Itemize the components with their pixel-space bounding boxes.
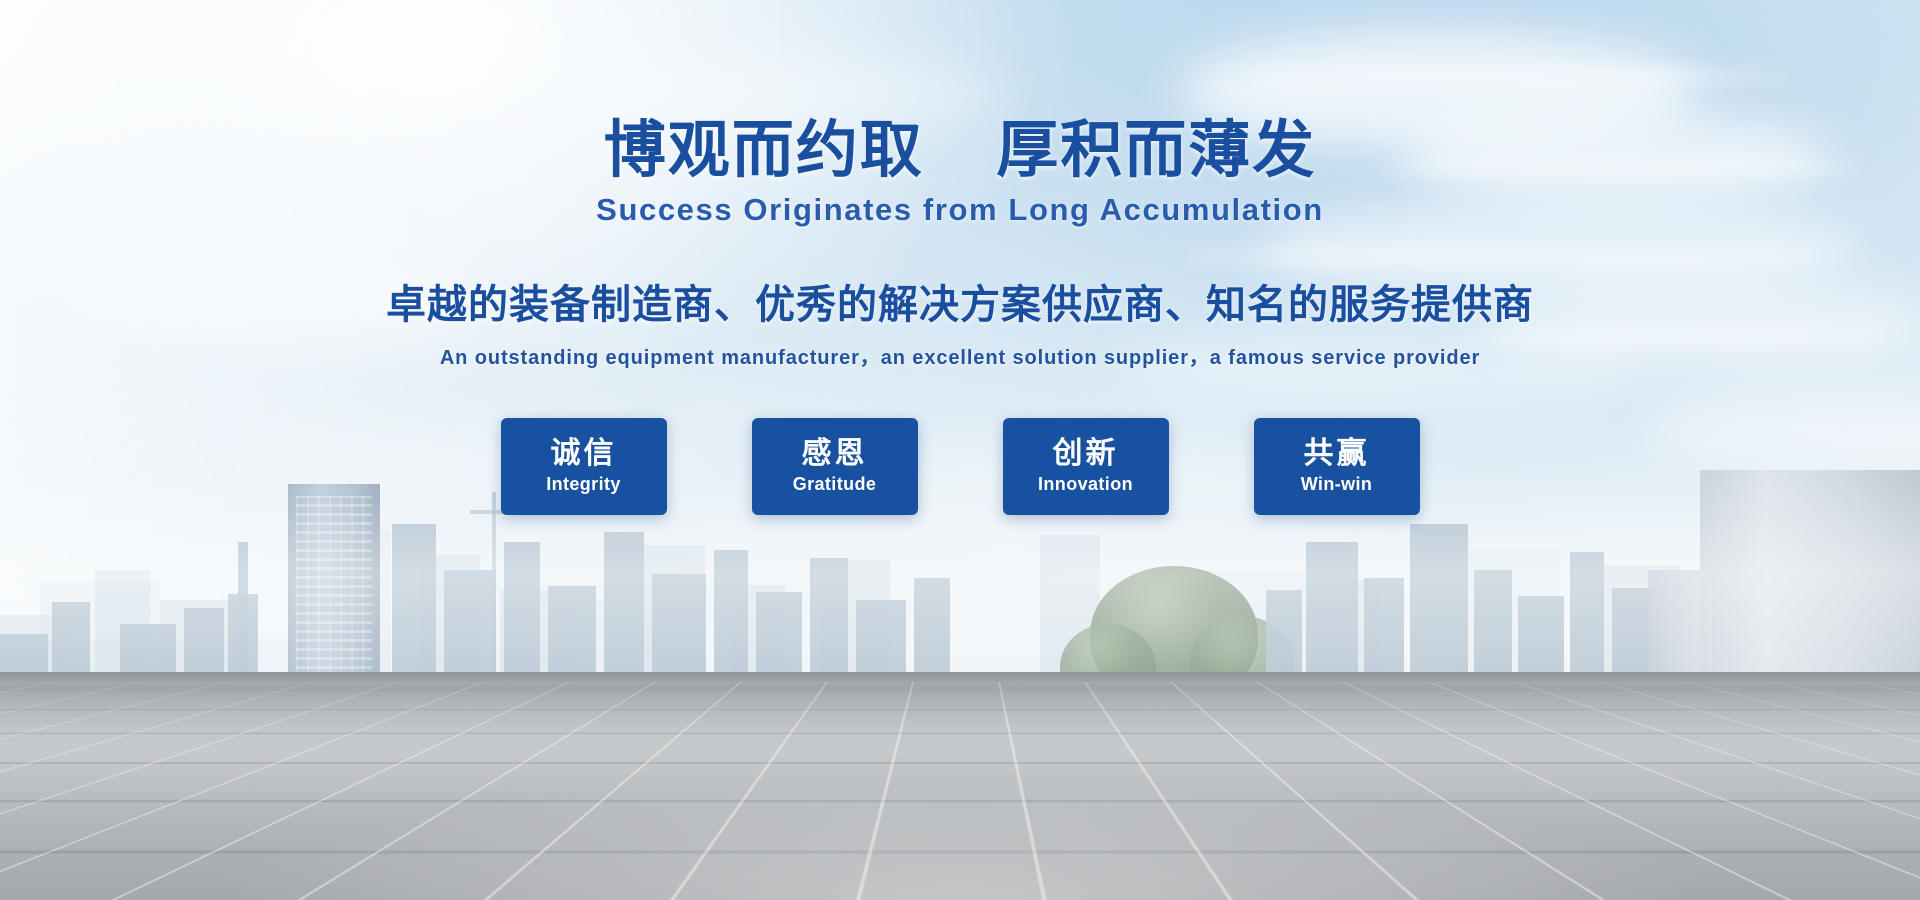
hero-banner: 博观而约取 厚积而薄发 Success Originates from Long…	[0, 0, 1920, 900]
banner-content: 博观而约取 厚积而薄发 Success Originates from Long…	[0, 0, 1920, 900]
headline-chinese-part1: 博观而约取	[604, 116, 924, 185]
value-card-label-cn: 创新	[1053, 437, 1119, 471]
headline-english: Success Originates from Long Accumulatio…	[596, 192, 1324, 228]
value-card-gratitude[interactable]: 感恩 Gratitude	[752, 418, 918, 515]
headline-chinese-part2: 厚积而薄发	[996, 116, 1316, 185]
subheadline-english: An outstanding equipment manufacturer，an…	[440, 341, 1480, 370]
value-card-innovation[interactable]: 创新 Innovation	[1003, 418, 1169, 515]
headline-chinese: 博观而约取 厚积而薄发	[604, 118, 1317, 184]
value-card-list: 诚信 Integrity 感恩 Gratitude 创新 Innovation …	[501, 418, 1420, 515]
value-card-label-en: Innovation	[1038, 474, 1133, 495]
value-card-label-cn: 感恩	[802, 437, 868, 471]
value-card-label-cn: 共赢	[1304, 437, 1370, 471]
value-card-label-en: Integrity	[546, 474, 621, 495]
value-card-integrity[interactable]: 诚信 Integrity	[501, 418, 667, 515]
value-card-winwin[interactable]: 共赢 Win-win	[1254, 418, 1420, 515]
value-card-label-cn: 诚信	[551, 437, 617, 471]
value-card-label-en: Win-win	[1301, 474, 1373, 495]
value-card-label-en: Gratitude	[793, 474, 877, 495]
subheadline-chinese: 卓越的装备制造商、优秀的解决方案供应商、知名的服务提供商	[386, 272, 1534, 330]
